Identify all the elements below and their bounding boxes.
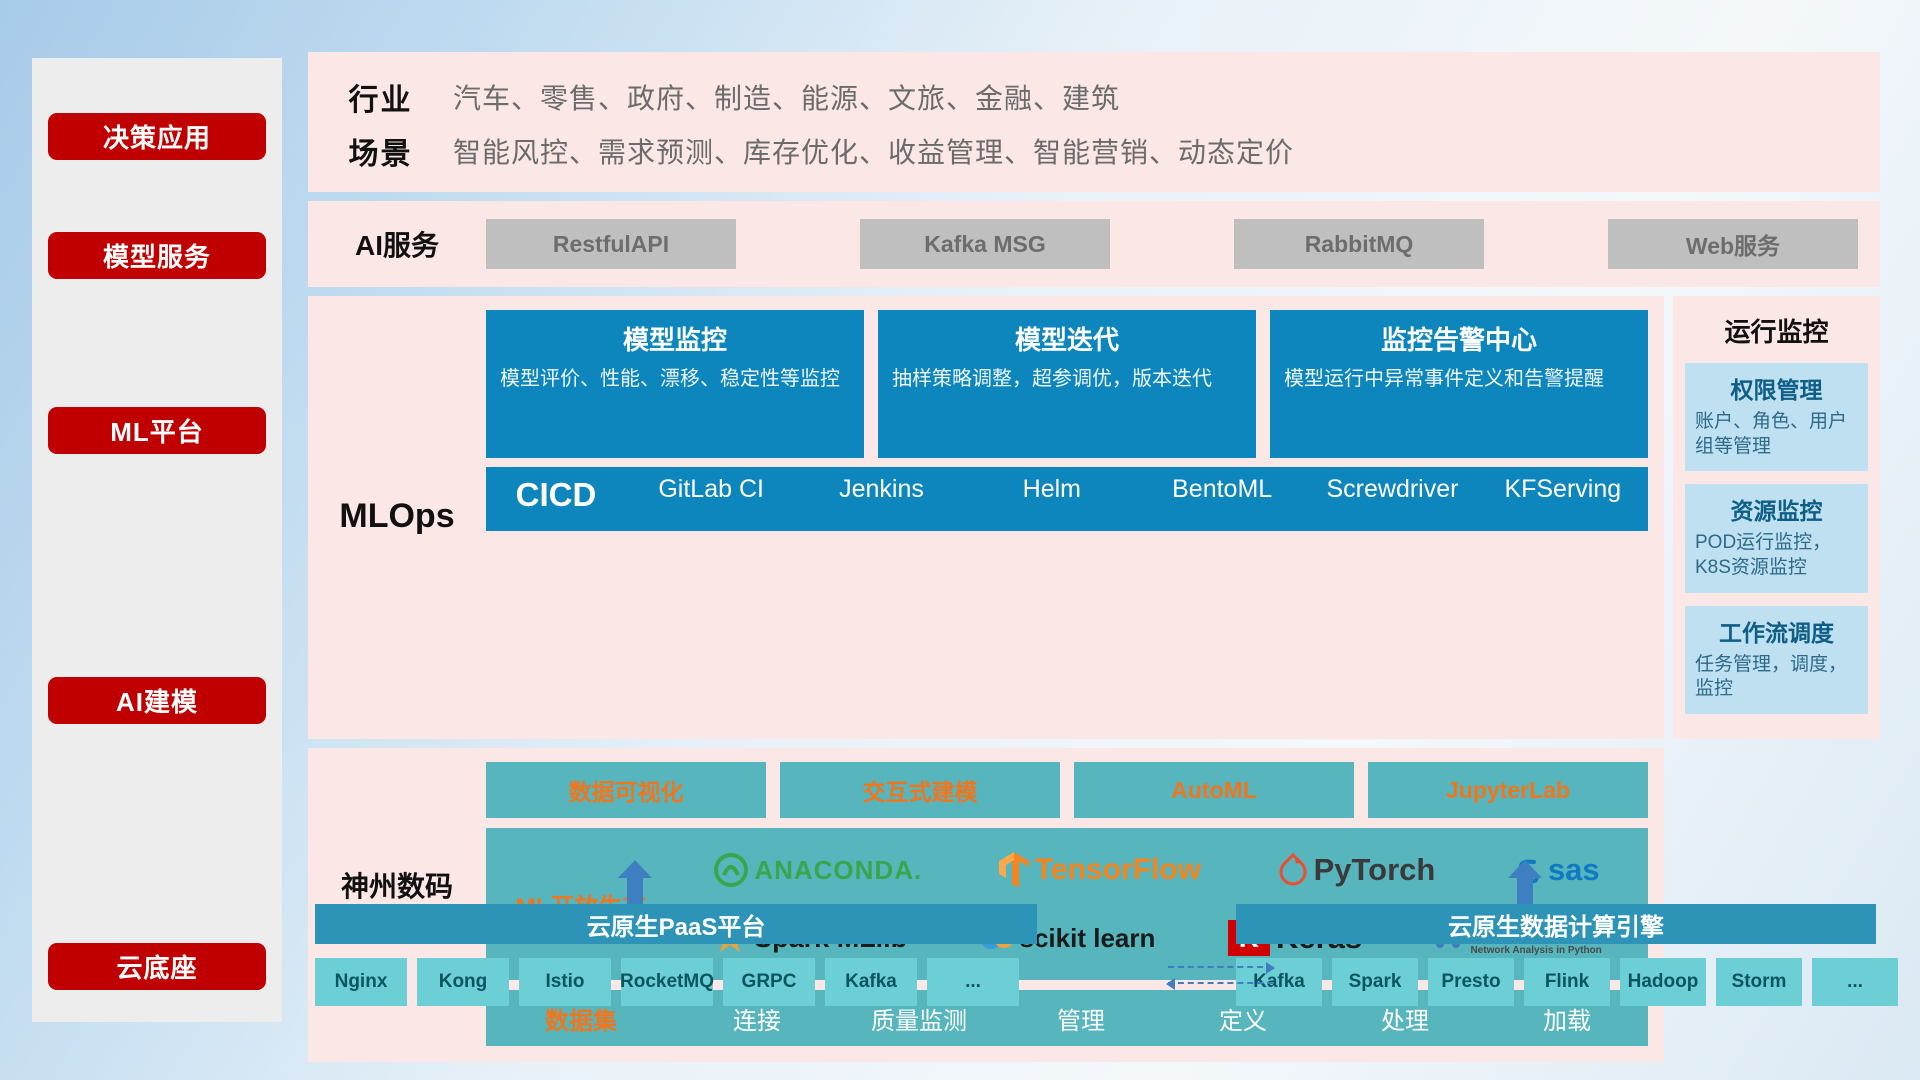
sidebar-item-ml-platform[interactable]: ML平台 — [48, 407, 266, 454]
cicd-label: CICD — [486, 476, 626, 514]
ai-service-web[interactable]: Web服务 — [1608, 219, 1858, 269]
chip-flink[interactable]: Flink — [1524, 958, 1610, 1006]
monitor-box-resources[interactable]: 资源监控 POD运行监控，K8S资源监控 — [1685, 484, 1868, 592]
mlops-body: 模型监控 模型评价、性能、漂移、稳定性等监控 模型迭代 抽样策略调整，超参调优，… — [486, 310, 1648, 723]
chip-more-engine[interactable]: ... — [1812, 958, 1898, 1006]
tool-data-visualization[interactable]: 数据可视化 — [486, 762, 766, 818]
cicd-item-jenkins[interactable]: Jenkins — [796, 476, 966, 502]
sidebar-item-decision-apps[interactable]: 决策应用 — [48, 113, 266, 160]
monitor-box-title: 工作流调度 — [1695, 614, 1858, 648]
mlops-card-alert-center[interactable]: 监控告警中心 模型运行中异常事件定义和告警提醒 — [1270, 310, 1648, 458]
mlops-band: MLOps 模型监控 模型评价、性能、漂移、稳定性等监控 模型迭代 抽样策略调整… — [308, 296, 1664, 739]
data-engine-bar[interactable]: 云原生数据计算引擎 — [1236, 904, 1876, 944]
chip-storm[interactable]: Storm — [1716, 958, 1802, 1006]
chip-kafka[interactable]: Kafka — [825, 958, 917, 1006]
monitor-box-permissions[interactable]: 权限管理 账户、角色、用户组等管理 — [1685, 363, 1868, 471]
card-title: 模型迭代 — [892, 320, 1242, 357]
monitor-box-title: 资源监控 — [1695, 492, 1858, 526]
cicd-item-screwdriver[interactable]: Screwdriver — [1307, 476, 1477, 502]
monitor-box-desc: 任务管理，调度，监控 — [1695, 653, 1858, 702]
sidebar-item-label: 模型服务 — [103, 237, 211, 274]
tool-interactive-modeling[interactable]: 交互式建模 — [780, 762, 1060, 818]
paas-chip-list: Nginx Kong Istio RocketMQ GRPC Kafka ... — [315, 958, 1019, 1006]
cicd-item-kfserving[interactable]: KFServing — [1478, 476, 1648, 502]
mlops-card-model-monitoring[interactable]: 模型监控 模型评价、性能、漂移、稳定性等监控 — [486, 310, 864, 458]
sidebar-item-cloud-base[interactable]: 云底座 — [48, 943, 266, 990]
paas-bar[interactable]: 云原生PaaS平台 — [315, 904, 1037, 944]
paas-label: 云原生PaaS平台 — [587, 907, 766, 942]
industry-value: 汽车、零售、政府、制造、能源、文旅、金融、建筑 — [453, 77, 1120, 117]
arrow-up-engine — [1508, 860, 1542, 904]
mllab-tool-list: 数据可视化 交互式建模 AutoML JupyterLab — [486, 762, 1648, 818]
scenario-row: 场景 智能风控、需求预测、库存优化、收益管理、智能营销、动态定价 — [308, 124, 1880, 178]
tool-jupyterlab[interactable]: JupyterLab — [1368, 762, 1648, 818]
sidebar-item-model-service[interactable]: 模型服务 — [48, 232, 266, 279]
sidebar-item-label: 决策应用 — [103, 118, 211, 155]
chip-istio[interactable]: Istio — [519, 958, 611, 1006]
runtime-monitor-panel: 运行监控 权限管理 账户、角色、用户组等管理 资源监控 POD运行监控，K8S资… — [1673, 296, 1880, 739]
card-desc: 抽样策略调整，超参调优，版本迭代 — [892, 366, 1242, 392]
ai-service-band: AI服务 RestfulAPI Kafka MSG RabbitMQ Web服务 — [308, 201, 1880, 287]
industry-label: 行业 — [308, 75, 453, 119]
ai-service-restful[interactable]: RestfulAPI — [486, 219, 736, 269]
chip-kong[interactable]: Kong — [417, 958, 509, 1006]
card-desc: 模型运行中异常事件定义和告警提醒 — [1284, 366, 1634, 392]
anaconda-label: ANACONDA. — [754, 855, 922, 886]
card-title: 模型监控 — [500, 320, 850, 357]
tool-automl[interactable]: AutoML — [1074, 762, 1354, 818]
ai-service-kafka[interactable]: Kafka MSG — [860, 219, 1110, 269]
chip-presto[interactable]: Presto — [1428, 958, 1514, 1006]
industry-row: 行业 汽车、零售、政府、制造、能源、文旅、金融、建筑 — [308, 70, 1880, 124]
monitor-box-desc: POD运行监控，K8S资源监控 — [1695, 531, 1858, 580]
decision-apps-band: 行业 汽车、零售、政府、制造、能源、文旅、金融、建筑 场景 智能风控、需求预测、… — [308, 52, 1880, 192]
ai-service-list: RestfulAPI Kafka MSG RabbitMQ Web服务 — [486, 219, 1880, 269]
cicd-item-gitlab[interactable]: GitLab CI — [626, 476, 796, 502]
data-engine-label: 云原生数据计算引擎 — [1448, 907, 1664, 942]
mlops-label: MLOps — [308, 310, 486, 723]
mlops-card-list: 模型监控 模型评价、性能、漂移、稳定性等监控 模型迭代 抽样策略调整，超参调优，… — [486, 310, 1648, 458]
arrow-right-dashed — [1168, 966, 1273, 968]
runtime-monitor-title: 运行监控 — [1685, 312, 1868, 349]
cloud-foundation: 云原生PaaS平台 云原生数据计算引擎 Nginx Kong Istio Roc… — [308, 882, 1880, 1042]
arrow-up-paas — [618, 860, 652, 904]
sidebar-item-ai-modeling[interactable]: AI建模 — [48, 677, 266, 724]
chip-grpc[interactable]: GRPC — [723, 958, 815, 1006]
chip-rocketmq[interactable]: RocketMQ — [621, 958, 713, 1006]
cicd-strip: CICD GitLab CI Jenkins Helm BentoML Scre… — [486, 467, 1648, 531]
chip-more-paas[interactable]: ... — [927, 958, 1019, 1006]
monitor-box-workflow[interactable]: 工作流调度 任务管理，调度，监控 — [1685, 606, 1868, 714]
chip-nginx[interactable]: Nginx — [315, 958, 407, 1006]
monitor-box-title: 权限管理 — [1695, 371, 1858, 405]
sidebar-item-label: 云底座 — [116, 948, 197, 985]
layer-rail — [32, 58, 282, 1022]
ml-platform-row: MLOps 模型监控 模型评价、性能、漂移、稳定性等监控 模型迭代 抽样策略调整… — [308, 296, 1880, 739]
engine-chip-list: Kafka Spark Presto Flink Hadoop Storm ..… — [1236, 958, 1898, 1006]
bidirectional-link — [1168, 952, 1273, 998]
chip-hadoop[interactable]: Hadoop — [1620, 958, 1706, 1006]
card-desc: 模型评价、性能、漂移、稳定性等监控 — [500, 366, 850, 392]
architecture-diagram: 决策应用 模型服务 ML平台 AI建模 云底座 行业 汽车、零售、政府、制造、能… — [0, 0, 1920, 1080]
cicd-item-list: GitLab CI Jenkins Helm BentoML Screwdriv… — [626, 476, 1648, 502]
arrow-left-dashed — [1168, 982, 1273, 984]
cicd-item-helm[interactable]: Helm — [967, 476, 1137, 502]
scenario-value: 智能风控、需求预测、库存优化、收益管理、智能营销、动态定价 — [453, 131, 1294, 171]
monitor-box-desc: 账户、角色、用户组等管理 — [1695, 410, 1858, 459]
card-title: 监控告警中心 — [1284, 320, 1634, 357]
sidebar-item-label: ML平台 — [110, 412, 204, 449]
ai-service-rabbitmq[interactable]: RabbitMQ — [1234, 219, 1484, 269]
mlops-card-model-iteration[interactable]: 模型迭代 抽样策略调整，超参调优，版本迭代 — [878, 310, 1256, 458]
scenario-label: 场景 — [308, 129, 453, 173]
cicd-item-bentoml[interactable]: BentoML — [1137, 476, 1307, 502]
chip-spark[interactable]: Spark — [1332, 958, 1418, 1006]
sidebar-item-label: AI建模 — [116, 682, 198, 719]
ai-service-label: AI服务 — [308, 224, 486, 264]
